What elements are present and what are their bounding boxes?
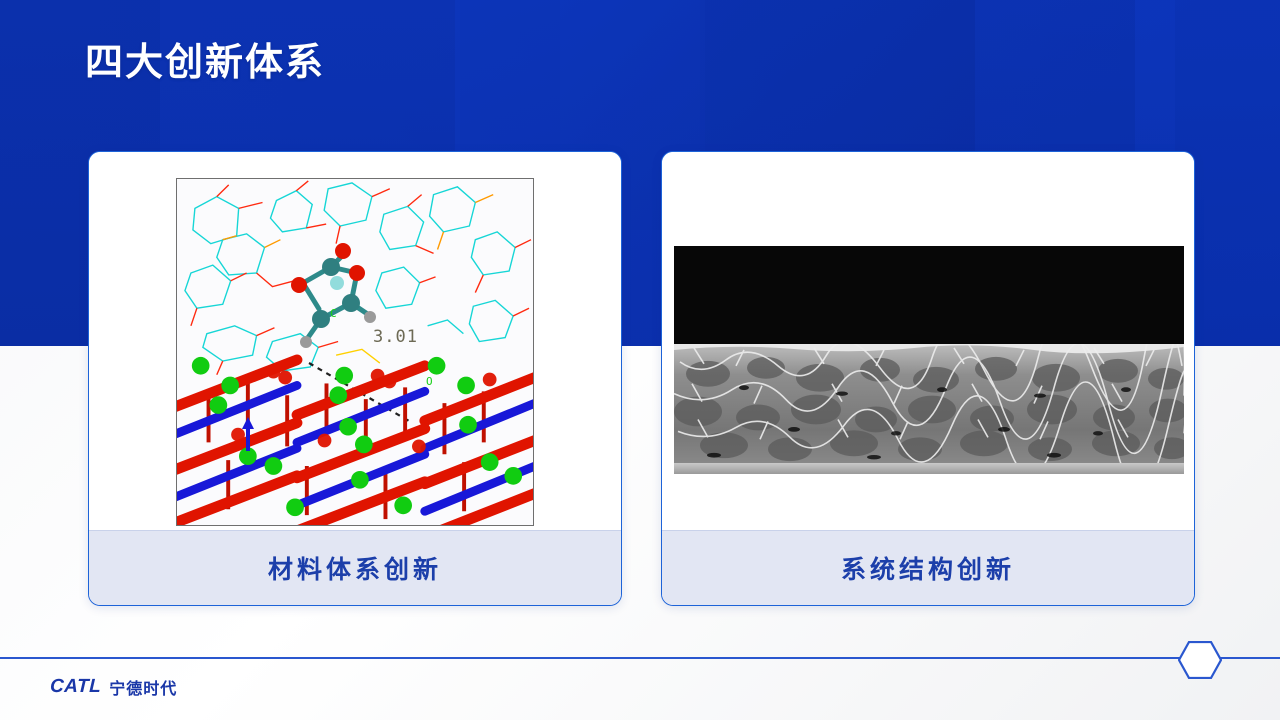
atom-label-carbon: C bbox=[330, 307, 337, 320]
bond-distance-label: 3.01 bbox=[373, 327, 418, 347]
footer-divider-line bbox=[0, 657, 1280, 659]
page-title: 四大创新体系 bbox=[85, 41, 325, 87]
sem-substrate-band bbox=[674, 463, 1184, 474]
content-card-material[interactable]: 3.01 C O bbox=[88, 151, 622, 606]
sem-vacuum-region bbox=[674, 246, 1184, 346]
hexagon-decoration-icon bbox=[1178, 641, 1222, 679]
card-caption-material-text: 材料体系创新 bbox=[268, 550, 442, 586]
slide-root: 四大创新体系 bbox=[0, 0, 1280, 720]
sem-porous-layer-icon bbox=[674, 344, 1184, 467]
card-caption-material: 材料体系创新 bbox=[89, 530, 621, 605]
card-caption-system-text: 系统结构创新 bbox=[841, 550, 1015, 586]
card-media-system bbox=[662, 152, 1194, 532]
molecular-simulation-figure: 3.01 C O bbox=[176, 178, 534, 526]
logo-latin-text: CATL bbox=[50, 676, 102, 698]
catl-logo: CATL 宁德时代 bbox=[50, 675, 177, 699]
card-caption-system: 系统结构创新 bbox=[662, 530, 1194, 605]
logo-chinese-text: 宁德时代 bbox=[109, 675, 177, 699]
content-card-system[interactable]: 系统结构创新 bbox=[661, 151, 1195, 606]
crystal-lattice-icon bbox=[177, 352, 533, 525]
sem-micrograph-figure bbox=[674, 246, 1184, 474]
solvated-ion-cluster-icon bbox=[273, 239, 413, 369]
axis-arrow-icon bbox=[239, 417, 257, 453]
card-media-material: 3.01 C O bbox=[89, 152, 621, 532]
